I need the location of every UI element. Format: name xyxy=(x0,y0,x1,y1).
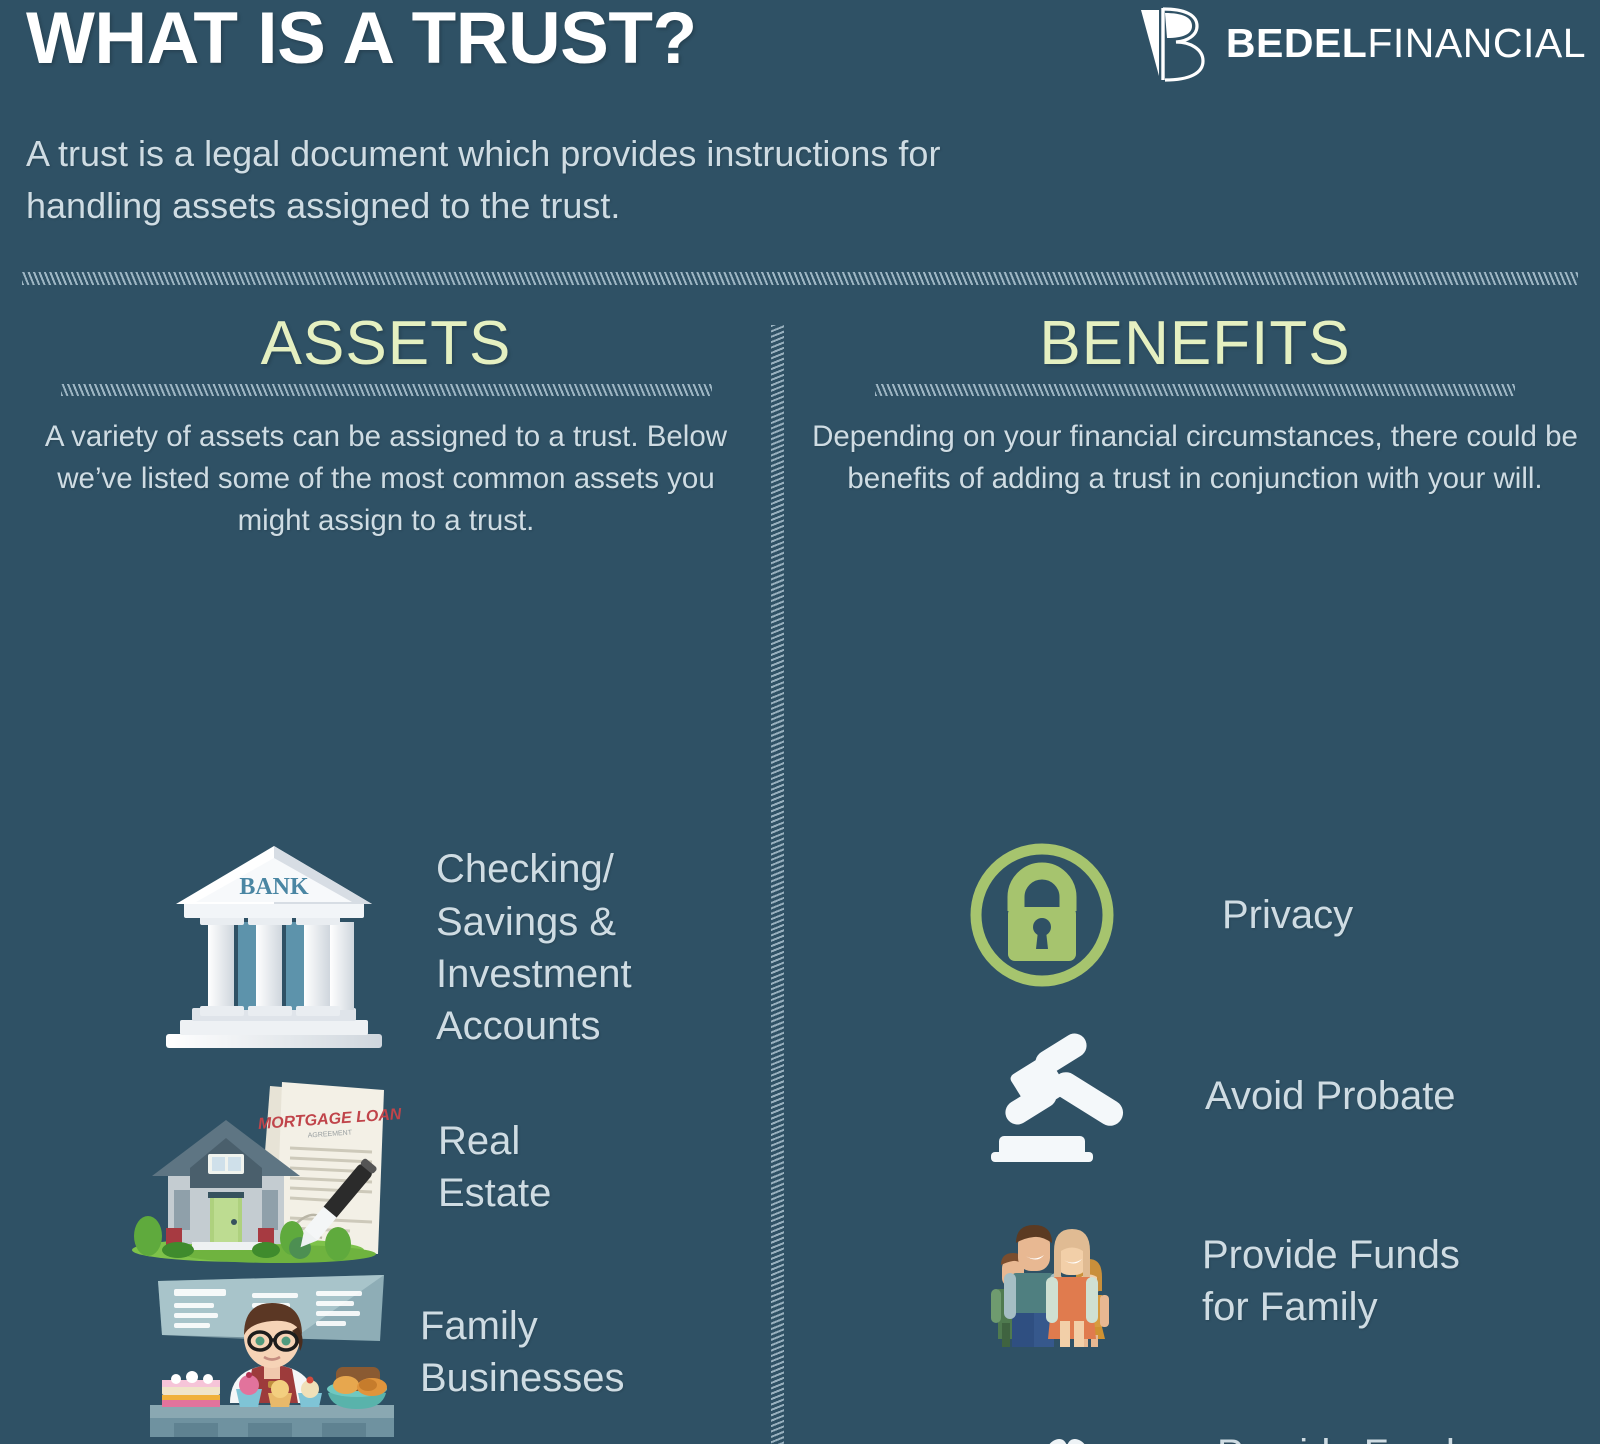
assets-heading-rule xyxy=(61,384,712,396)
page-title: WHAT IS A TRUST? xyxy=(26,2,697,75)
logo-light-word: FINANCIAL xyxy=(1367,20,1586,66)
list-item: BANK Checking/ Savings & Investment Acco… xyxy=(160,842,632,1054)
list-item-label: Provide Funds for Family xyxy=(1202,1229,1460,1334)
padlock-circle-icon xyxy=(962,835,1122,995)
list-item-label: Privacy xyxy=(1222,889,1353,941)
hands-heart-icon xyxy=(997,1415,1137,1444)
list-item-label: Real Estate xyxy=(438,1115,551,1220)
list-item: MORTGAGE LOAN AGREEMENT xyxy=(130,1072,551,1262)
list-item: Family Businesses xyxy=(140,1267,625,1437)
page-subtitle: A trust is a legal document which provid… xyxy=(26,128,1086,232)
bakery-shopkeeper-icon xyxy=(140,1267,402,1437)
list-item: Privacy xyxy=(962,835,1353,995)
gavel-icon xyxy=(977,1030,1127,1162)
list-item-label: Family Businesses xyxy=(420,1300,625,1405)
house-mortgage-document-icon: MORTGAGE LOAN AGREEMENT xyxy=(130,1072,402,1262)
bank-sign-text: BANK xyxy=(239,874,309,900)
list-item: Provide Funds for Charity xyxy=(997,1415,1475,1444)
bedel-financial-logo: BEDELFINANCIAL xyxy=(1137,4,1586,82)
logo-wordmark: BEDELFINANCIAL xyxy=(1226,20,1586,67)
header: WHAT IS A TRUST? A trust is a legal docu… xyxy=(0,0,1600,268)
bank-building-icon: BANK xyxy=(160,842,388,1054)
assets-column: ASSETS A variety of assets can be assign… xyxy=(22,312,750,542)
header-divider xyxy=(22,272,1578,285)
list-item-label: Checking/ Savings & Investment Accounts xyxy=(436,843,632,1053)
column-divider xyxy=(771,325,784,1444)
list-item-label: Avoid Probate xyxy=(1205,1070,1456,1122)
benefits-heading: BENEFITS xyxy=(812,312,1578,376)
bedel-b-monogram-icon xyxy=(1137,4,1209,82)
list-item: Avoid Probate xyxy=(977,1030,1456,1162)
infographic-page: WHAT IS A TRUST? A trust is a legal docu… xyxy=(0,0,1600,1444)
family-group-icon xyxy=(972,1215,1122,1347)
benefits-blurb: Depending on your financial circumstance… xyxy=(812,416,1578,500)
list-item-label: Provide Funds for Charity xyxy=(1217,1428,1475,1444)
logo-bold-word: BEDEL xyxy=(1226,20,1367,66)
benefits-column: BENEFITS Depending on your financial cir… xyxy=(812,312,1578,500)
assets-heading: ASSETS xyxy=(22,312,750,376)
assets-blurb: A variety of assets can be assigned to a… xyxy=(22,416,750,542)
benefits-heading-rule xyxy=(875,384,1515,396)
list-item: Provide Funds for Family xyxy=(972,1215,1460,1347)
